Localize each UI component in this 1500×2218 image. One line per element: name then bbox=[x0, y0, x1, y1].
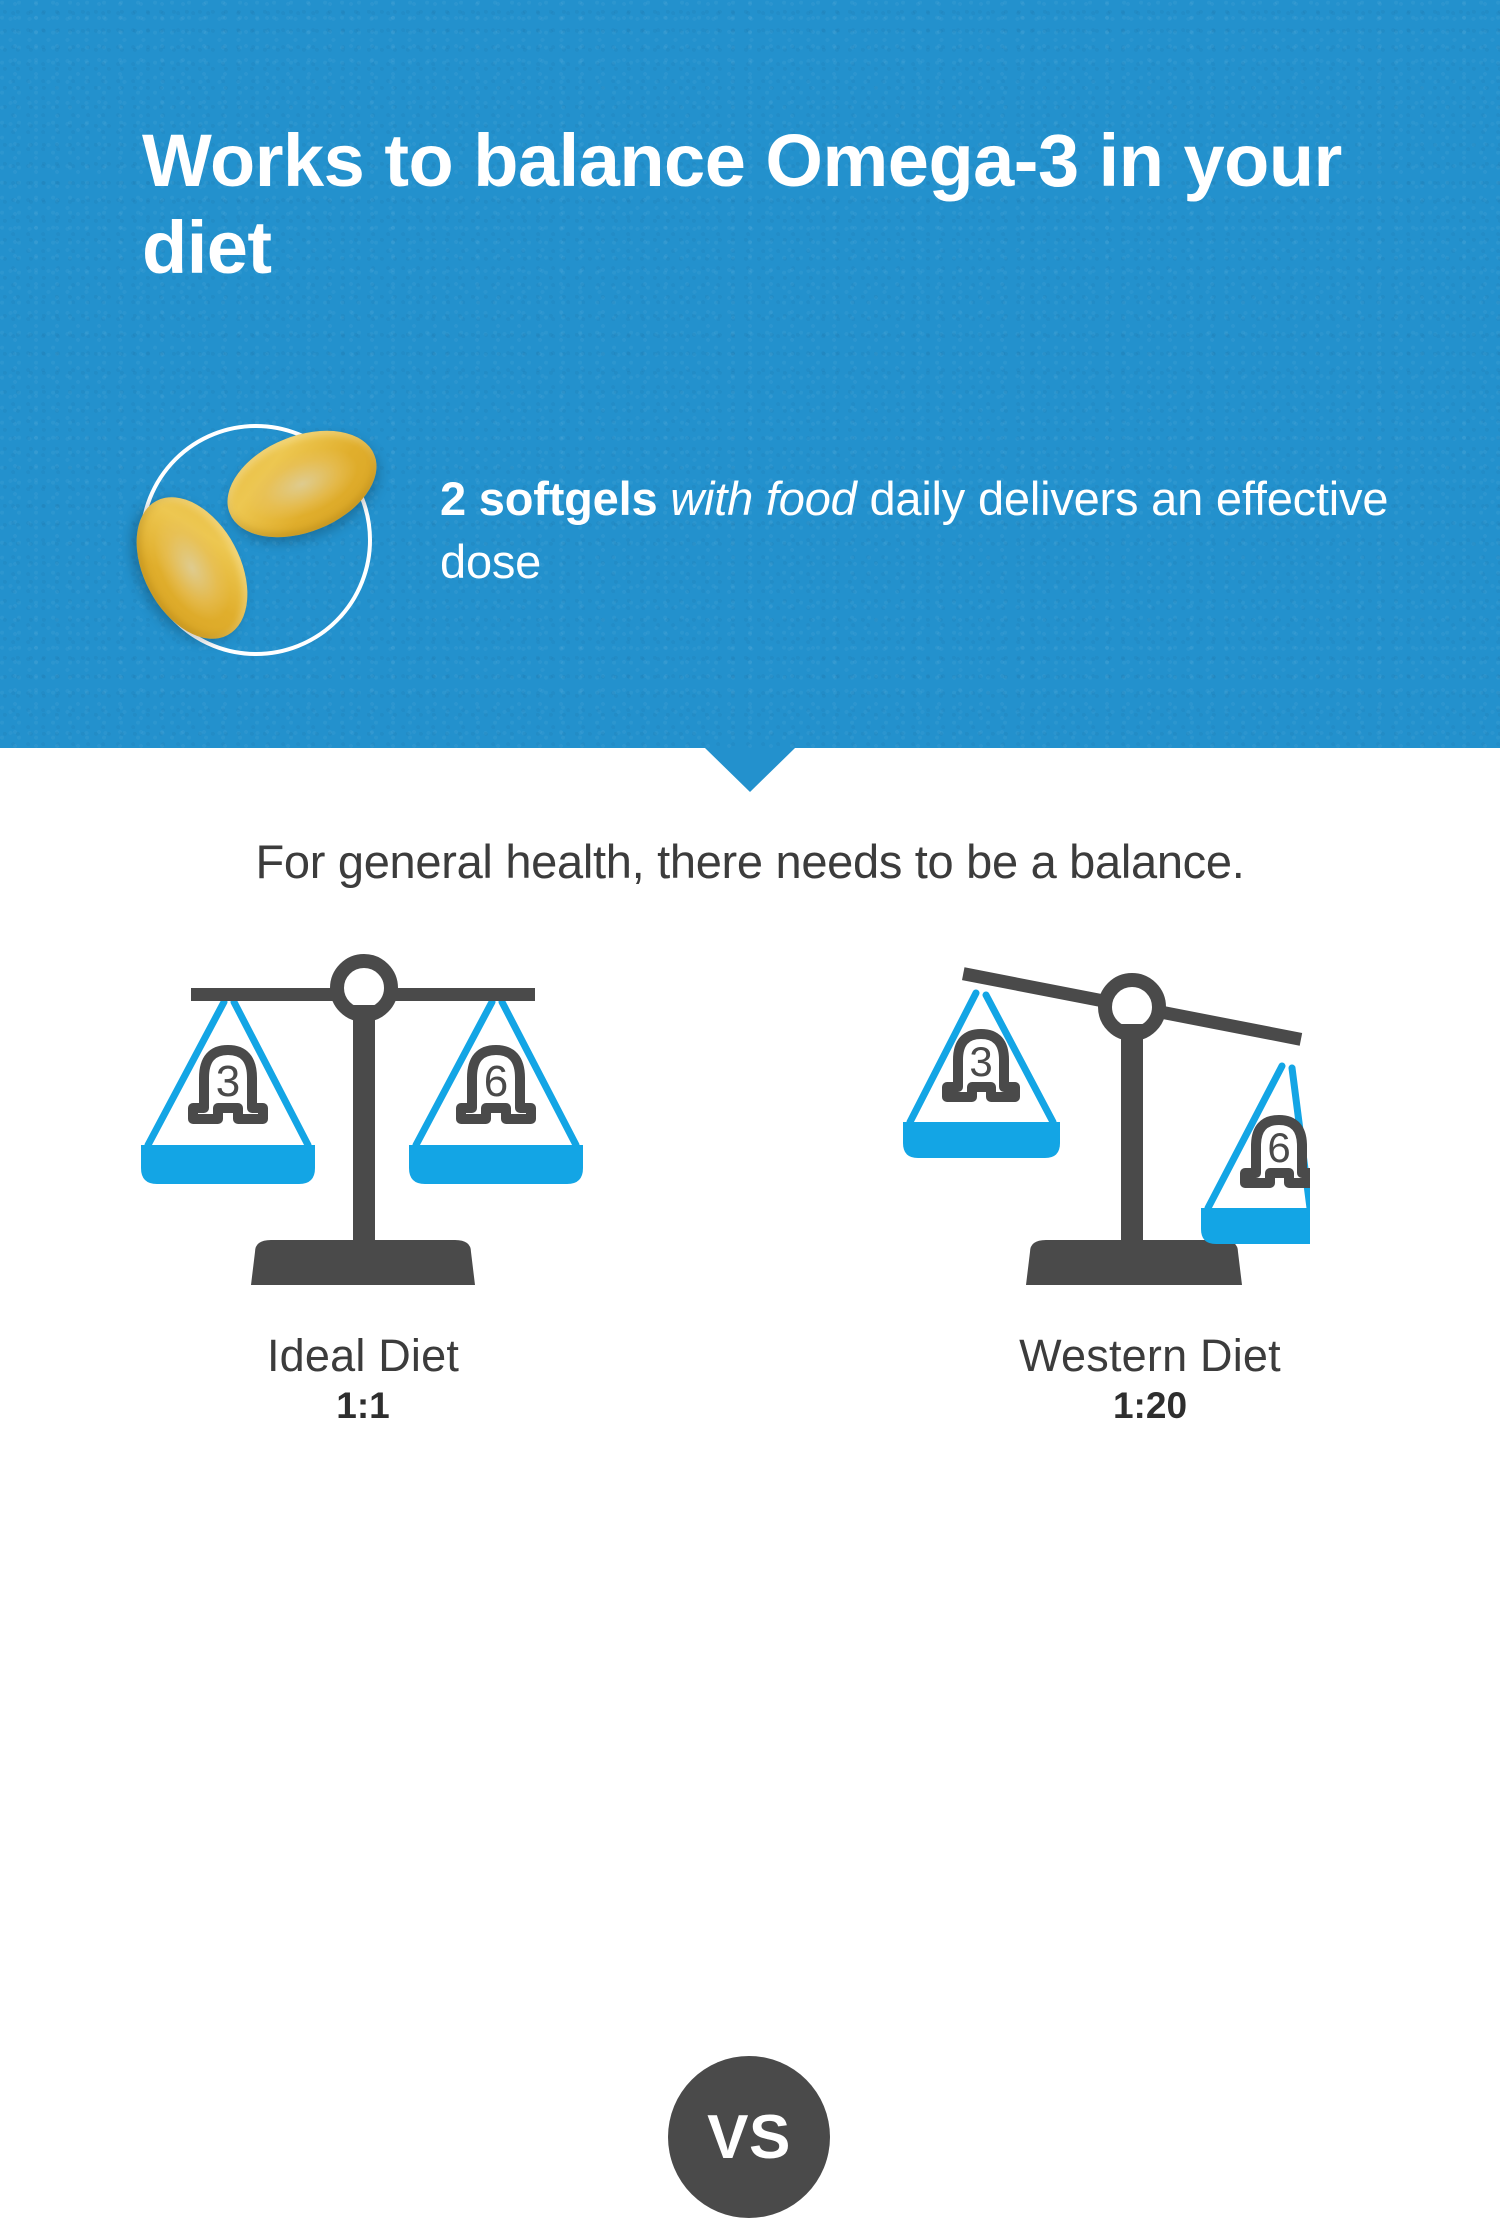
scale-beam-left bbox=[962, 967, 1105, 1007]
weight-label-3: 3 bbox=[969, 1038, 992, 1085]
panel-pointer-notch bbox=[705, 748, 795, 792]
dosage-statement: 2 softgels with food daily delivers an e… bbox=[440, 468, 1390, 593]
scale-base bbox=[251, 1240, 475, 1285]
dosage-amount: 2 softgels bbox=[440, 472, 657, 525]
diet-name: Western Diet bbox=[890, 1332, 1410, 1379]
page-title: Works to balance Omega-3 in your diet bbox=[142, 118, 1412, 291]
scale-pan-right bbox=[1201, 1208, 1310, 1244]
scale-pan-left bbox=[141, 1145, 315, 1184]
weight-icon-omega6: 6 bbox=[1245, 1120, 1310, 1183]
diet-ratio: 1:20 bbox=[890, 1387, 1410, 1426]
weight-label-6: 6 bbox=[1267, 1124, 1290, 1171]
weight-label-3: 3 bbox=[216, 1057, 240, 1106]
vs-badge: VS bbox=[668, 2056, 830, 2218]
vs-label: VS bbox=[707, 2102, 791, 2173]
scale-pan-left bbox=[903, 1122, 1060, 1158]
scale-beam-right bbox=[392, 988, 535, 1001]
dosage-condition: with food bbox=[657, 472, 869, 525]
diet-name: Ideal Diet bbox=[103, 1332, 623, 1379]
caption-ideal-diet: Ideal Diet 1:1 bbox=[103, 1332, 623, 1426]
scale-beam-right bbox=[1159, 1006, 1302, 1046]
hero-panel: Works to balance Omega-3 in your diet 2 … bbox=[0, 0, 1500, 748]
scale-post bbox=[353, 1005, 375, 1251]
balance-scale-ideal-diet: 3 6 bbox=[103, 950, 623, 1310]
balance-scale-western-diet: 3 6 bbox=[890, 950, 1310, 1310]
weight-icon-omega6: 6 bbox=[461, 1050, 531, 1119]
scales-comparison: 3 6 bbox=[0, 950, 1500, 1310]
weight-icon-omega3: 3 bbox=[947, 1034, 1015, 1097]
scale-pan-right bbox=[409, 1145, 583, 1184]
weight-icon-omega3: 3 bbox=[193, 1050, 263, 1119]
diet-ratio: 1:1 bbox=[103, 1387, 623, 1426]
softgel-illustration bbox=[104, 412, 404, 682]
scale-post bbox=[1121, 1024, 1143, 1251]
weight-label-6: 6 bbox=[484, 1057, 508, 1106]
scale-base bbox=[1026, 1240, 1242, 1285]
caption-western-diet: Western Diet 1:20 bbox=[890, 1332, 1410, 1426]
section-subheading: For general health, there needs to be a … bbox=[0, 834, 1500, 889]
scale-beam-left bbox=[191, 988, 334, 1001]
